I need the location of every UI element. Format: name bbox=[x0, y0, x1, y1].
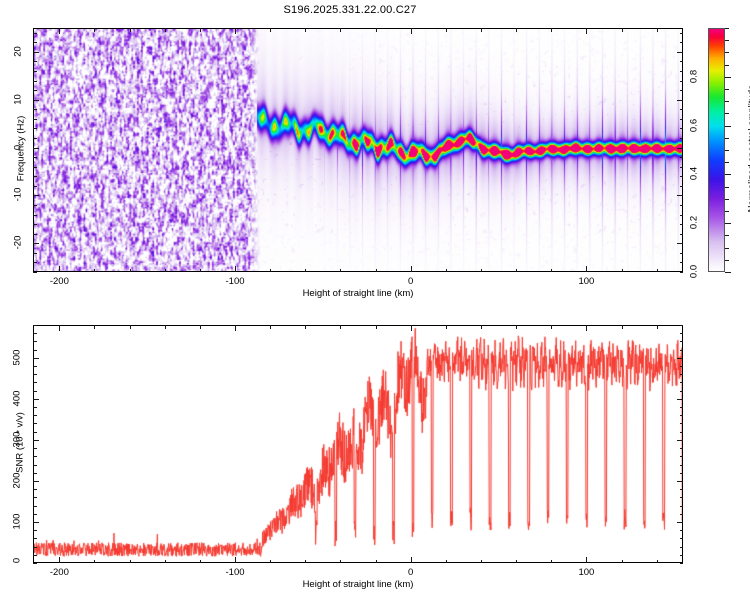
colorbar-tick-label: 0.8 bbox=[689, 64, 700, 88]
spectrogram-image bbox=[34, 29, 683, 272]
axis-tick bbox=[680, 489, 684, 490]
axis-tick bbox=[622, 325, 623, 329]
axis-tick bbox=[59, 325, 60, 331]
axis-tick bbox=[551, 560, 552, 564]
axis-tick bbox=[680, 325, 684, 326]
axis-tick bbox=[725, 126, 731, 127]
axis-tick bbox=[680, 538, 684, 539]
axis-tick bbox=[33, 341, 37, 342]
axis-tick bbox=[622, 28, 623, 32]
axis-tick bbox=[270, 325, 271, 329]
axis-tick-label: 10 bbox=[13, 88, 24, 110]
axis-tick bbox=[270, 269, 271, 273]
axis-tick bbox=[376, 269, 377, 273]
axis-tick bbox=[376, 28, 377, 32]
axis-tick bbox=[680, 448, 684, 449]
axis-tick bbox=[33, 262, 37, 263]
colorbar-label: Normalized spectral amplitude bbox=[747, 74, 750, 224]
axis-tick bbox=[305, 325, 306, 329]
axis-tick bbox=[33, 555, 37, 556]
axis-tick-label: 100 bbox=[578, 276, 594, 287]
axis-tick bbox=[130, 560, 131, 564]
axis-tick bbox=[725, 138, 729, 139]
spectrogram-x-axis-label: Height of straight line (km) bbox=[303, 288, 414, 299]
axis-tick bbox=[680, 465, 684, 466]
axis-tick bbox=[33, 52, 39, 53]
axis-tick bbox=[680, 374, 684, 375]
axis-tick bbox=[725, 235, 729, 236]
axis-tick bbox=[130, 269, 131, 273]
axis-tick bbox=[516, 325, 517, 329]
axis-tick bbox=[270, 560, 271, 564]
axis-tick bbox=[33, 407, 37, 408]
axis-tick bbox=[33, 391, 37, 392]
axis-tick bbox=[725, 28, 729, 29]
axis-tick bbox=[680, 138, 684, 139]
colorbar-tick-label: 0.0 bbox=[689, 260, 700, 284]
axis-tick bbox=[481, 269, 482, 273]
axis-tick bbox=[446, 269, 447, 273]
axis-tick bbox=[725, 89, 729, 90]
axis-tick bbox=[411, 557, 412, 563]
axis-tick bbox=[677, 148, 683, 149]
axis-tick bbox=[340, 28, 341, 32]
snr-plot bbox=[33, 325, 683, 563]
axis-tick bbox=[33, 423, 37, 424]
snr-line-series bbox=[34, 326, 683, 563]
axis-tick bbox=[586, 28, 587, 34]
axis-tick bbox=[59, 557, 60, 563]
axis-tick bbox=[680, 109, 684, 110]
axis-tick bbox=[59, 266, 60, 272]
axis-tick bbox=[680, 415, 684, 416]
axis-tick bbox=[33, 61, 37, 62]
axis-tick bbox=[33, 138, 37, 139]
axis-tick bbox=[33, 325, 37, 326]
axis-tick bbox=[725, 162, 729, 163]
axis-tick bbox=[33, 382, 37, 383]
axis-tick-label: -200 bbox=[50, 276, 69, 287]
axis-tick bbox=[677, 481, 683, 482]
axis-tick bbox=[33, 506, 37, 507]
axis-tick bbox=[677, 243, 683, 244]
colorbar-tick-label: 0.6 bbox=[689, 113, 700, 137]
axis-tick bbox=[235, 28, 236, 34]
axis-tick bbox=[622, 560, 623, 564]
colorbar-tick-label: 0.4 bbox=[689, 162, 700, 186]
axis-tick bbox=[680, 234, 684, 235]
axis-tick bbox=[33, 205, 37, 206]
axis-tick bbox=[94, 325, 95, 329]
axis-tick bbox=[680, 497, 684, 498]
axis-tick bbox=[680, 176, 684, 177]
axis-tick bbox=[33, 530, 37, 531]
axis-tick bbox=[200, 325, 201, 329]
axis-tick bbox=[235, 266, 236, 272]
axis-tick bbox=[680, 157, 684, 158]
spectrogram-canvas-area bbox=[34, 29, 682, 271]
axis-tick bbox=[551, 325, 552, 329]
axis-tick bbox=[677, 100, 683, 101]
axis-tick bbox=[165, 269, 166, 273]
axis-tick bbox=[130, 28, 131, 32]
axis-tick bbox=[33, 465, 37, 466]
axis-tick bbox=[680, 432, 684, 433]
axis-tick bbox=[680, 33, 684, 34]
axis-tick bbox=[200, 28, 201, 32]
axis-tick bbox=[680, 341, 684, 342]
axis-tick bbox=[33, 90, 37, 91]
axis-tick bbox=[33, 448, 37, 449]
axis-tick bbox=[680, 71, 684, 72]
axis-tick bbox=[551, 28, 552, 32]
axis-tick bbox=[677, 358, 683, 359]
axis-tick bbox=[657, 325, 658, 329]
axis-tick bbox=[376, 560, 377, 564]
axis-tick bbox=[340, 269, 341, 273]
axis-tick bbox=[725, 187, 729, 188]
axis-tick bbox=[33, 333, 37, 334]
axis-tick-label: -100 bbox=[226, 276, 245, 287]
axis-tick-label: 0 bbox=[408, 276, 413, 287]
axis-tick bbox=[33, 167, 37, 168]
axis-tick bbox=[657, 269, 658, 273]
axis-tick bbox=[411, 28, 412, 34]
snr-canvas-area bbox=[34, 326, 682, 562]
axis-tick bbox=[680, 333, 684, 334]
axis-tick bbox=[680, 514, 684, 515]
axis-tick bbox=[33, 81, 37, 82]
axis-tick bbox=[680, 272, 684, 273]
axis-tick bbox=[33, 514, 37, 515]
axis-tick bbox=[446, 325, 447, 329]
axis-tick bbox=[586, 325, 587, 331]
axis-tick bbox=[33, 497, 37, 498]
axis-tick bbox=[94, 28, 95, 32]
axis-tick bbox=[516, 560, 517, 564]
figure-title: S196.2025.331.22.00.C27 bbox=[0, 4, 700, 16]
axis-tick bbox=[94, 269, 95, 273]
axis-tick-label: -100 bbox=[226, 567, 245, 578]
axis-tick bbox=[33, 440, 39, 441]
axis-tick bbox=[340, 325, 341, 329]
axis-tick bbox=[33, 215, 37, 216]
axis-tick bbox=[33, 399, 39, 400]
axis-tick bbox=[33, 119, 37, 120]
axis-tick-label: 0 bbox=[12, 549, 23, 573]
axis-tick-label: 100 bbox=[578, 567, 594, 578]
figure-root: S196.2025.331.22.00.C27 -200-1000100-20-… bbox=[0, 0, 750, 600]
axis-tick bbox=[130, 325, 131, 329]
axis-tick bbox=[33, 272, 37, 273]
axis-tick bbox=[725, 150, 729, 151]
axis-tick bbox=[680, 423, 684, 424]
axis-tick bbox=[680, 555, 684, 556]
axis-tick bbox=[33, 100, 39, 101]
axis-tick-label: 20 bbox=[13, 40, 24, 62]
spectrogram-y-axis-label: Frequency (Hz) bbox=[16, 109, 27, 189]
axis-tick bbox=[680, 128, 684, 129]
axis-tick bbox=[725, 260, 729, 261]
axis-tick bbox=[725, 40, 729, 41]
axis-tick bbox=[33, 157, 37, 158]
axis-tick bbox=[33, 547, 37, 548]
axis-tick bbox=[551, 269, 552, 273]
axis-tick-label: 500 bbox=[12, 345, 23, 369]
axis-tick bbox=[677, 399, 683, 400]
axis-tick bbox=[680, 262, 684, 263]
axis-tick bbox=[680, 253, 684, 254]
axis-tick bbox=[235, 557, 236, 563]
axis-tick bbox=[481, 28, 482, 32]
axis-tick bbox=[33, 148, 39, 149]
axis-tick bbox=[411, 266, 412, 272]
axis-tick bbox=[586, 557, 587, 563]
axis-tick bbox=[33, 195, 39, 196]
colorbar-tick-label: 0.2 bbox=[689, 211, 700, 235]
axis-tick bbox=[680, 205, 684, 206]
axis-tick bbox=[200, 269, 201, 273]
axis-tick bbox=[725, 174, 731, 175]
axis-tick bbox=[725, 223, 731, 224]
axis-tick bbox=[33, 33, 37, 34]
axis-tick bbox=[725, 113, 729, 114]
axis-tick bbox=[33, 71, 37, 72]
axis-tick bbox=[446, 560, 447, 564]
axis-tick bbox=[725, 248, 729, 249]
axis-tick bbox=[516, 269, 517, 273]
axis-tick bbox=[33, 128, 37, 129]
axis-tick bbox=[680, 382, 684, 383]
axis-tick bbox=[33, 489, 37, 490]
axis-tick bbox=[586, 266, 587, 272]
axis-tick bbox=[33, 186, 37, 187]
axis-tick bbox=[33, 522, 39, 523]
axis-tick bbox=[725, 77, 731, 78]
axis-tick bbox=[680, 547, 684, 548]
axis-tick bbox=[33, 374, 37, 375]
axis-tick bbox=[305, 269, 306, 273]
axis-tick bbox=[235, 325, 236, 331]
axis-tick bbox=[305, 28, 306, 32]
axis-tick bbox=[680, 407, 684, 408]
axis-tick bbox=[725, 199, 729, 200]
axis-tick bbox=[481, 325, 482, 329]
snr-x-axis-label: Height of straight line (km) bbox=[303, 579, 414, 590]
axis-tick bbox=[165, 560, 166, 564]
axis-tick bbox=[33, 481, 39, 482]
axis-tick bbox=[680, 90, 684, 91]
axis-tick bbox=[680, 81, 684, 82]
axis-tick bbox=[33, 538, 37, 539]
axis-tick bbox=[33, 432, 37, 433]
axis-tick bbox=[680, 506, 684, 507]
axis-tick bbox=[33, 456, 37, 457]
axis-tick bbox=[677, 52, 683, 53]
axis-tick bbox=[33, 563, 37, 564]
axis-tick bbox=[33, 176, 37, 177]
axis-tick bbox=[677, 440, 683, 441]
axis-tick bbox=[677, 522, 683, 523]
axis-tick bbox=[680, 530, 684, 531]
axis-tick bbox=[165, 28, 166, 32]
axis-tick bbox=[680, 391, 684, 392]
axis-tick bbox=[680, 473, 684, 474]
axis-tick bbox=[516, 28, 517, 32]
axis-tick bbox=[340, 560, 341, 564]
snr-y-axis-label: SNR (10 * v/v) bbox=[15, 398, 26, 488]
axis-tick bbox=[725, 211, 729, 212]
axis-tick bbox=[680, 563, 684, 564]
axis-tick bbox=[725, 272, 731, 273]
axis-tick bbox=[59, 28, 60, 34]
axis-tick bbox=[680, 215, 684, 216]
axis-tick bbox=[33, 234, 37, 235]
axis-tick bbox=[33, 358, 39, 359]
axis-tick bbox=[680, 224, 684, 225]
axis-tick-label: 0 bbox=[408, 567, 413, 578]
axis-tick-label: 100 bbox=[12, 509, 23, 533]
axis-tick bbox=[33, 415, 37, 416]
axis-tick bbox=[376, 325, 377, 329]
axis-tick bbox=[270, 28, 271, 32]
axis-tick bbox=[446, 28, 447, 32]
axis-tick-label: -20 bbox=[13, 232, 24, 254]
axis-tick bbox=[411, 325, 412, 331]
axis-tick bbox=[680, 167, 684, 168]
axis-tick bbox=[305, 560, 306, 564]
axis-tick bbox=[33, 243, 39, 244]
colorbar bbox=[708, 28, 725, 272]
axis-tick bbox=[33, 109, 37, 110]
axis-tick bbox=[680, 366, 684, 367]
axis-tick bbox=[33, 224, 37, 225]
axis-tick bbox=[657, 560, 658, 564]
axis-tick bbox=[33, 473, 37, 474]
colorbar-gradient bbox=[708, 28, 725, 272]
axis-tick bbox=[622, 269, 623, 273]
axis-tick bbox=[165, 325, 166, 329]
axis-tick bbox=[33, 350, 37, 351]
axis-tick bbox=[33, 366, 37, 367]
axis-tick bbox=[680, 119, 684, 120]
axis-tick-label: -200 bbox=[50, 567, 69, 578]
axis-tick bbox=[33, 253, 37, 254]
axis-tick bbox=[94, 560, 95, 564]
axis-tick bbox=[481, 560, 482, 564]
axis-tick bbox=[680, 42, 684, 43]
axis-tick bbox=[200, 560, 201, 564]
axis-tick bbox=[725, 65, 729, 66]
axis-tick bbox=[33, 42, 37, 43]
axis-tick bbox=[680, 456, 684, 457]
axis-tick bbox=[680, 61, 684, 62]
axis-tick bbox=[680, 350, 684, 351]
spectrogram-plot bbox=[33, 28, 683, 272]
axis-tick bbox=[725, 101, 729, 102]
axis-tick bbox=[657, 28, 658, 32]
axis-tick bbox=[677, 195, 683, 196]
axis-tick bbox=[680, 186, 684, 187]
axis-tick bbox=[725, 52, 729, 53]
